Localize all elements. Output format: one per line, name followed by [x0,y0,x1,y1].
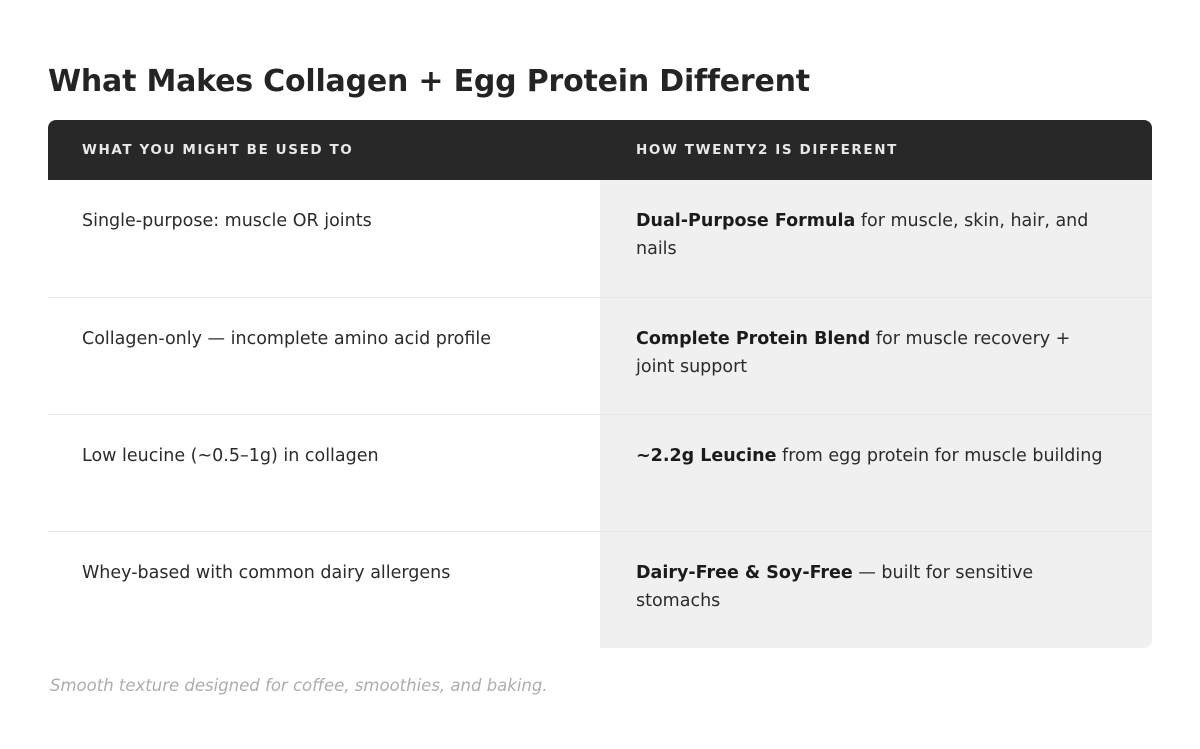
table-column-header-current: WHAT YOU MIGHT BE USED TO [48,142,600,158]
table-cell-current: Low leucine (~0.5–1g) in collagen [48,415,600,531]
table-body: Single-purpose: muscle OR joints Dual-Pu… [48,180,1152,648]
comparison-page: What Makes Collagen + Egg Protein Differ… [0,0,1200,749]
table-cell-highlight-rest: from egg protein for muscle building [776,446,1102,466]
table-row: Single-purpose: muscle OR joints Dual-Pu… [48,180,1152,297]
table-cell-twenty2: ~2.2g Leucine from egg protein for muscl… [600,415,1152,531]
footer-note: Smooth texture designed for coffee, smoo… [50,674,548,699]
table-cell-highlight-lead: Dual-Purpose Formula [636,211,855,231]
table-row: Whey-based with common dairy allergens D… [48,531,1152,648]
table-header-row: WHAT YOU MIGHT BE USED TO HOW TWENTY2 IS… [48,120,1152,180]
table-cell-twenty2: Complete Protein Blend for muscle recove… [600,298,1152,414]
table-cell-twenty2: Dual-Purpose Formula for muscle, skin, h… [600,180,1152,297]
table-cell-current: Single-purpose: muscle OR joints [48,180,600,297]
table-cell-highlight-lead: Complete Protein Blend [636,329,870,349]
table-cell-current: Collagen-only — incomplete amino acid pr… [48,298,600,414]
table-row: Collagen-only — incomplete amino acid pr… [48,297,1152,414]
comparison-table: WHAT YOU MIGHT BE USED TO HOW TWENTY2 IS… [48,120,1152,648]
table-cell-highlight-lead: ~2.2g Leucine [636,446,776,466]
table-cell-current: Whey-based with common dairy allergens [48,532,600,648]
table-column-header-twenty2: HOW TWENTY2 IS DIFFERENT [600,142,1152,158]
table-cell-highlight-lead: Dairy-Free & Soy-Free [636,563,853,583]
table-cell-twenty2: Dairy-Free & Soy-Free — built for sensit… [600,532,1152,648]
table-row: Low leucine (~0.5–1g) in collagen ~2.2g … [48,414,1152,531]
page-title: What Makes Collagen + Egg Protein Differ… [48,64,810,100]
